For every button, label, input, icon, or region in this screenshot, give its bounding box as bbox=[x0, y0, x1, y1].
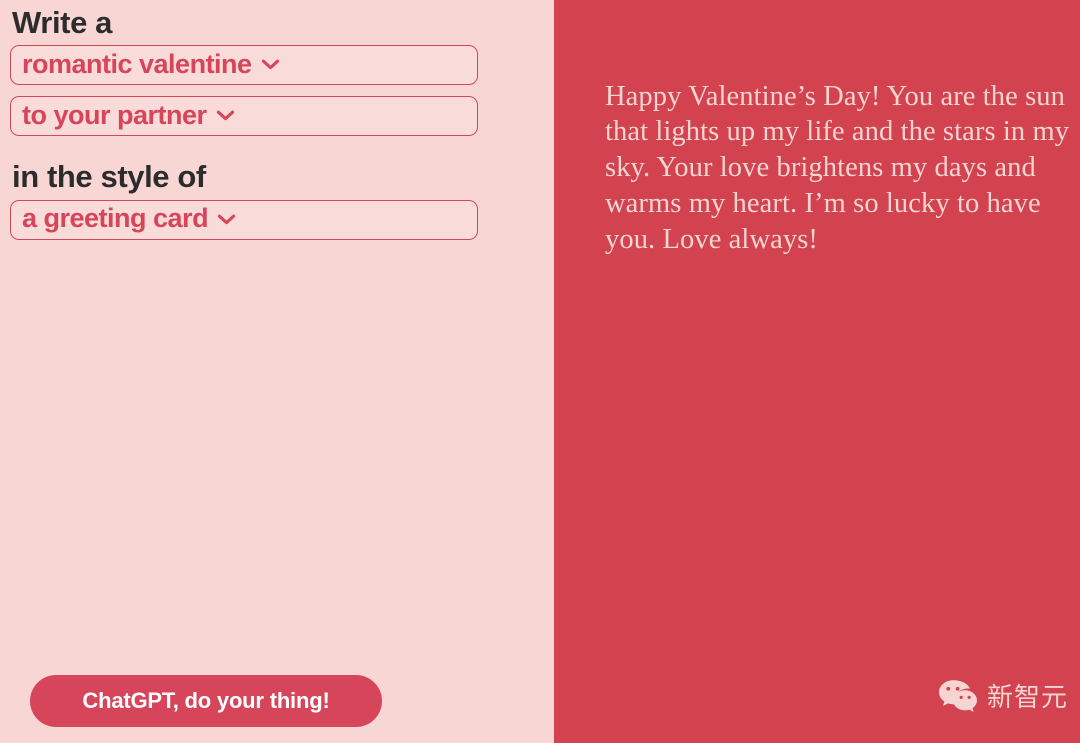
select-format-value: a greeting card bbox=[22, 205, 208, 234]
watermark-label: 新智元 bbox=[987, 685, 1068, 711]
prompt-label-in-the-style-of: in the style of bbox=[12, 160, 490, 193]
select-recipient-value: to your partner bbox=[22, 102, 207, 131]
select-format[interactable]: a greeting card bbox=[10, 200, 478, 240]
chevron-down-icon bbox=[261, 58, 280, 72]
generate-button[interactable]: ChatGPT, do your thing! bbox=[30, 675, 382, 727]
prompt-label-write-a: Write a bbox=[12, 6, 490, 39]
prompt-panel: Write a romantic valentine to your partn… bbox=[0, 0, 554, 743]
wechat-icon bbox=[938, 679, 978, 717]
chevron-down-icon bbox=[216, 109, 235, 123]
valentine-prompt-app: Write a romantic valentine to your partn… bbox=[0, 0, 1080, 743]
output-panel: Happy Valentine’s Day! You are the sun t… bbox=[554, 0, 1080, 743]
select-tone[interactable]: romantic valentine bbox=[10, 45, 478, 85]
watermark: 新智元 bbox=[938, 679, 1068, 717]
select-tone-value: romantic valentine bbox=[22, 51, 252, 80]
chevron-down-icon bbox=[217, 213, 236, 227]
select-recipient[interactable]: to your partner bbox=[10, 96, 478, 136]
generated-message: Happy Valentine’s Day! You are the sun t… bbox=[605, 79, 1080, 259]
prompt-builder: Write a romantic valentine to your partn… bbox=[10, 6, 490, 251]
